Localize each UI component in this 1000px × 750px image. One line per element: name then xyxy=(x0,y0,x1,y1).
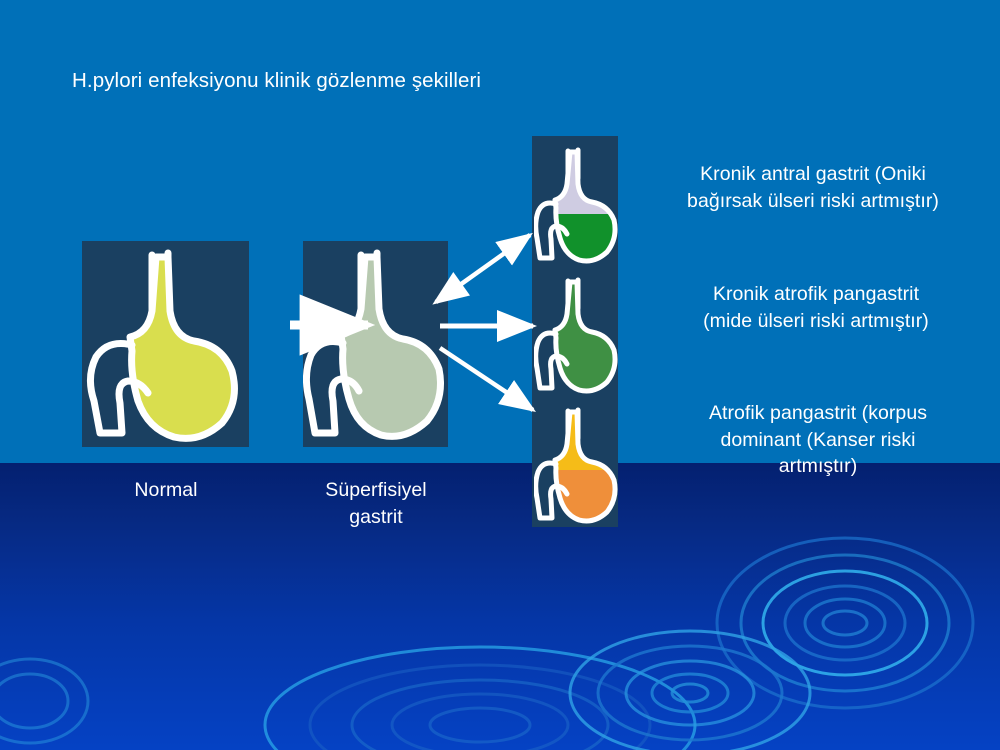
pangastritis-fill xyxy=(555,282,615,391)
label-antral-line1: Kronik antral gastrit (Oniki xyxy=(626,161,1000,188)
label-chronic-atrophic-pangastritis: Kronik atrofik pangastrit (mide ülseri r… xyxy=(646,281,986,334)
stomach-superficial-illustration xyxy=(303,241,448,447)
caption-normal: Normal xyxy=(70,477,262,504)
label-chronic-antral-gastritis: Kronik antral gastrit (Oniki bağırsak ül… xyxy=(626,161,1000,214)
label-corpus-line1: Atrofik pangastrit (korpus xyxy=(648,400,988,427)
slide-canvas: H.pylori enfeksiyonu klinik gözlenme şek… xyxy=(0,0,1000,750)
ripple-decoration xyxy=(0,463,1000,750)
label-antral-line2: bağırsak ülseri riski artmıştır) xyxy=(626,188,1000,215)
stomach-normal-illustration xyxy=(82,241,249,447)
stomach-pangastritis-illustration xyxy=(534,272,618,396)
page-title: H.pylori enfeksiyonu klinik gözlenme şek… xyxy=(72,68,632,94)
label-corpus-line2: dominant (Kanser riski xyxy=(648,427,988,454)
stomach-corpus-dominant-illustration xyxy=(534,402,618,526)
caption-superficial-gastritis: Süperfisiyel gastrit xyxy=(296,477,456,530)
label-pangastritis-line1: Kronik atrofik pangastrit xyxy=(646,281,986,308)
stomach-normal-fill xyxy=(130,257,234,438)
caption-superficial-line1: Süperfisiyel xyxy=(296,477,456,504)
stomach-superficial-fill xyxy=(341,257,441,436)
panel-superficial-gastritis xyxy=(303,241,448,447)
panel-outcomes-column xyxy=(532,136,618,527)
panel-normal-stomach xyxy=(82,241,249,447)
label-pangastritis-line2: (mide ülseri riski artmıştır) xyxy=(646,308,986,335)
stomach-antral-gastritis-illustration xyxy=(534,142,618,266)
label-atrophic-pangastritis-corpus: Atrofik pangastrit (korpus dominant (Kan… xyxy=(648,400,988,480)
caption-superficial-line2: gastrit xyxy=(296,504,456,531)
label-corpus-line3: artmıştır) xyxy=(648,453,988,480)
